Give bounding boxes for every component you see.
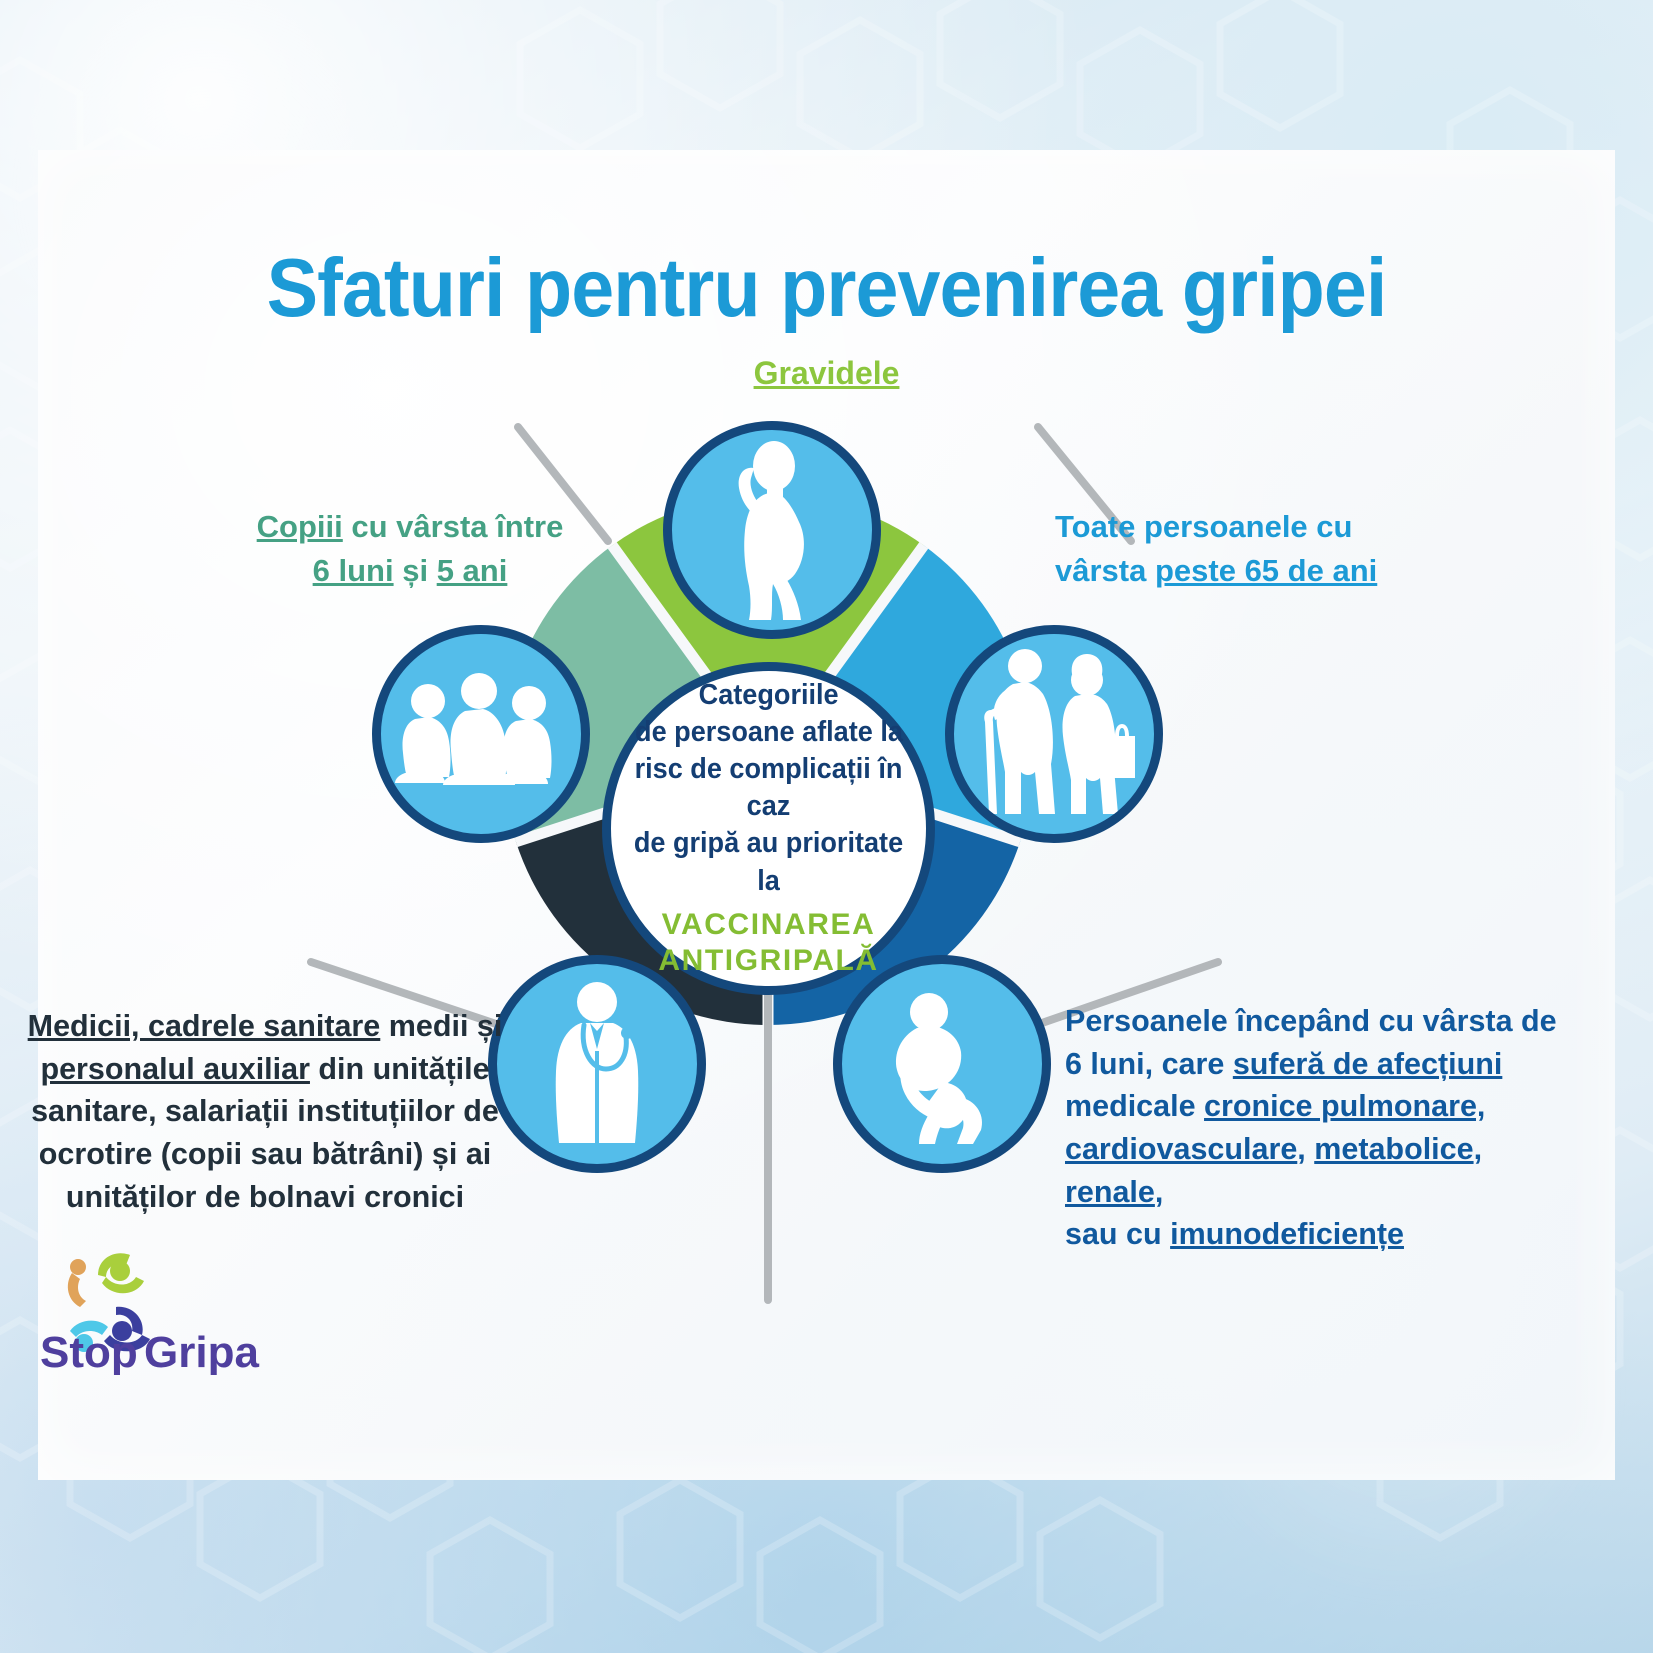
label-medici-line3: sanitare, salariații instituțiilor de (20, 1090, 510, 1133)
label-cronice-l4-u3: renale (1065, 1175, 1155, 1209)
label-cronice-line1: Persoanele începând cu vârsta de (1065, 1000, 1585, 1043)
center-line-3: risc de complicații în caz (619, 751, 918, 825)
label-copiii-l1-underlined: Copiii (257, 509, 343, 544)
label-cronice-line4: cardiovasculare, metabolice, renale, (1065, 1128, 1585, 1213)
infographic-poster: Sfaturi pentru prevenirea gripei (0, 0, 1653, 1653)
label-medici-l2-u: personalul auxiliar (40, 1052, 310, 1086)
label-varsta65-line1: Toate persoanele cu (1055, 505, 1445, 549)
label-copiii: Copiii cu vârsta între 6 luni și 5 ani (210, 505, 610, 593)
label-medici-l2-rest: din unitățile (310, 1052, 490, 1086)
sick-person-icon (867, 982, 1017, 1147)
center-highlight-1: VACCINAREA (662, 907, 876, 944)
label-copiii-l1-rest: cu vârsta între (343, 509, 564, 544)
logo-text-gripa: Gripa (144, 1328, 259, 1375)
bubble-varsta65[interactable] (945, 625, 1163, 843)
label-cronice-l4-sep1: , (1297, 1132, 1314, 1166)
label-medici-l1-u: Medicii, cadrele sanitare (28, 1009, 381, 1043)
label-medici-l1-rest: medii și (380, 1009, 502, 1043)
center-line-1: Categoriile (699, 677, 839, 714)
label-cronice-line2: 6 luni, care suferă de afecțiuni (1065, 1043, 1585, 1086)
label-copiii-l2-mid: și (394, 553, 437, 588)
children-icon (393, 669, 569, 799)
label-cronice-l4-u1: cardiovasculare (1065, 1132, 1297, 1166)
label-medici-line1: Medicii, cadrele sanitare medii și (20, 1005, 510, 1048)
bubble-cronice[interactable] (833, 955, 1051, 1173)
label-copiii-line2: 6 luni și 5 ani (210, 549, 610, 593)
label-medici: Medicii, cadrele sanitare medii și perso… (20, 1005, 510, 1218)
bubble-copiii[interactable] (372, 625, 590, 843)
label-varsta65-l2-pre: vârsta (1055, 553, 1155, 588)
page-title: Sfaturi pentru prevenirea gripei (58, 240, 1595, 336)
label-copiii-l2-a: 6 luni (313, 553, 394, 588)
label-cronice-l2-u: suferă de afecțiuni (1233, 1047, 1503, 1081)
stopgripa-logo[interactable]: Stop Gripa (40, 1235, 340, 1375)
label-cronice-l3-u: cronice pulmonare, (1204, 1089, 1485, 1123)
label-medici-line2: personalul auxiliar din unitățile (20, 1048, 510, 1091)
label-varsta65-line2: vârsta peste 65 de ani (1055, 549, 1445, 593)
pregnant-woman-icon (697, 438, 847, 623)
label-cronice-l4-sep2: , (1474, 1132, 1482, 1166)
label-cronice: Persoanele începând cu vârsta de 6 luni,… (1065, 1000, 1585, 1256)
label-cronice-l5-pre: sau cu (1065, 1217, 1170, 1251)
doctor-icon (532, 977, 662, 1152)
label-medici-line5: unităților de bolnavi cronici (20, 1176, 510, 1219)
label-cronice-l4-end: , (1155, 1175, 1163, 1209)
label-cronice-l3-pre: medicale (1065, 1089, 1204, 1123)
center-line-2: de persoane aflate la (635, 714, 903, 751)
label-cronice-line5: sau cu imunodeficiențe (1065, 1213, 1585, 1256)
label-cronice-l4-u2: metabolice (1314, 1132, 1473, 1166)
label-cronice-l2-pre: 6 luni, care (1065, 1047, 1233, 1081)
bubble-gravidele[interactable] (663, 421, 881, 639)
label-copiii-line1: Copiii cu vârsta între (210, 505, 610, 549)
label-cronice-l5-u: imunodeficiențe (1170, 1217, 1404, 1251)
bubble-medici[interactable] (488, 955, 706, 1173)
center-line-4: de gripă au prioritate la (619, 825, 918, 899)
label-gravidele-text: Gravidele (754, 355, 900, 391)
elderly-couple-icon (969, 644, 1139, 824)
center-highlight-2: ANTIGRIPALĂ (658, 943, 878, 980)
label-varsta65-l2-underlined: peste 65 de ani (1155, 553, 1377, 588)
center-circle: Categoriile de persoane aflate la risc d… (602, 662, 935, 995)
label-cronice-line3: medicale cronice pulmonare, (1065, 1085, 1585, 1128)
label-copiii-l2-b: 5 ani (437, 553, 508, 588)
logo-text-stop: Stop (40, 1328, 138, 1375)
label-gravidele: Gravidele (0, 355, 1653, 392)
label-medici-line4: ocrotire (copii sau bătrâni) și ai (20, 1133, 510, 1176)
label-varsta65: Toate persoanele cu vârsta peste 65 de a… (1055, 505, 1445, 593)
